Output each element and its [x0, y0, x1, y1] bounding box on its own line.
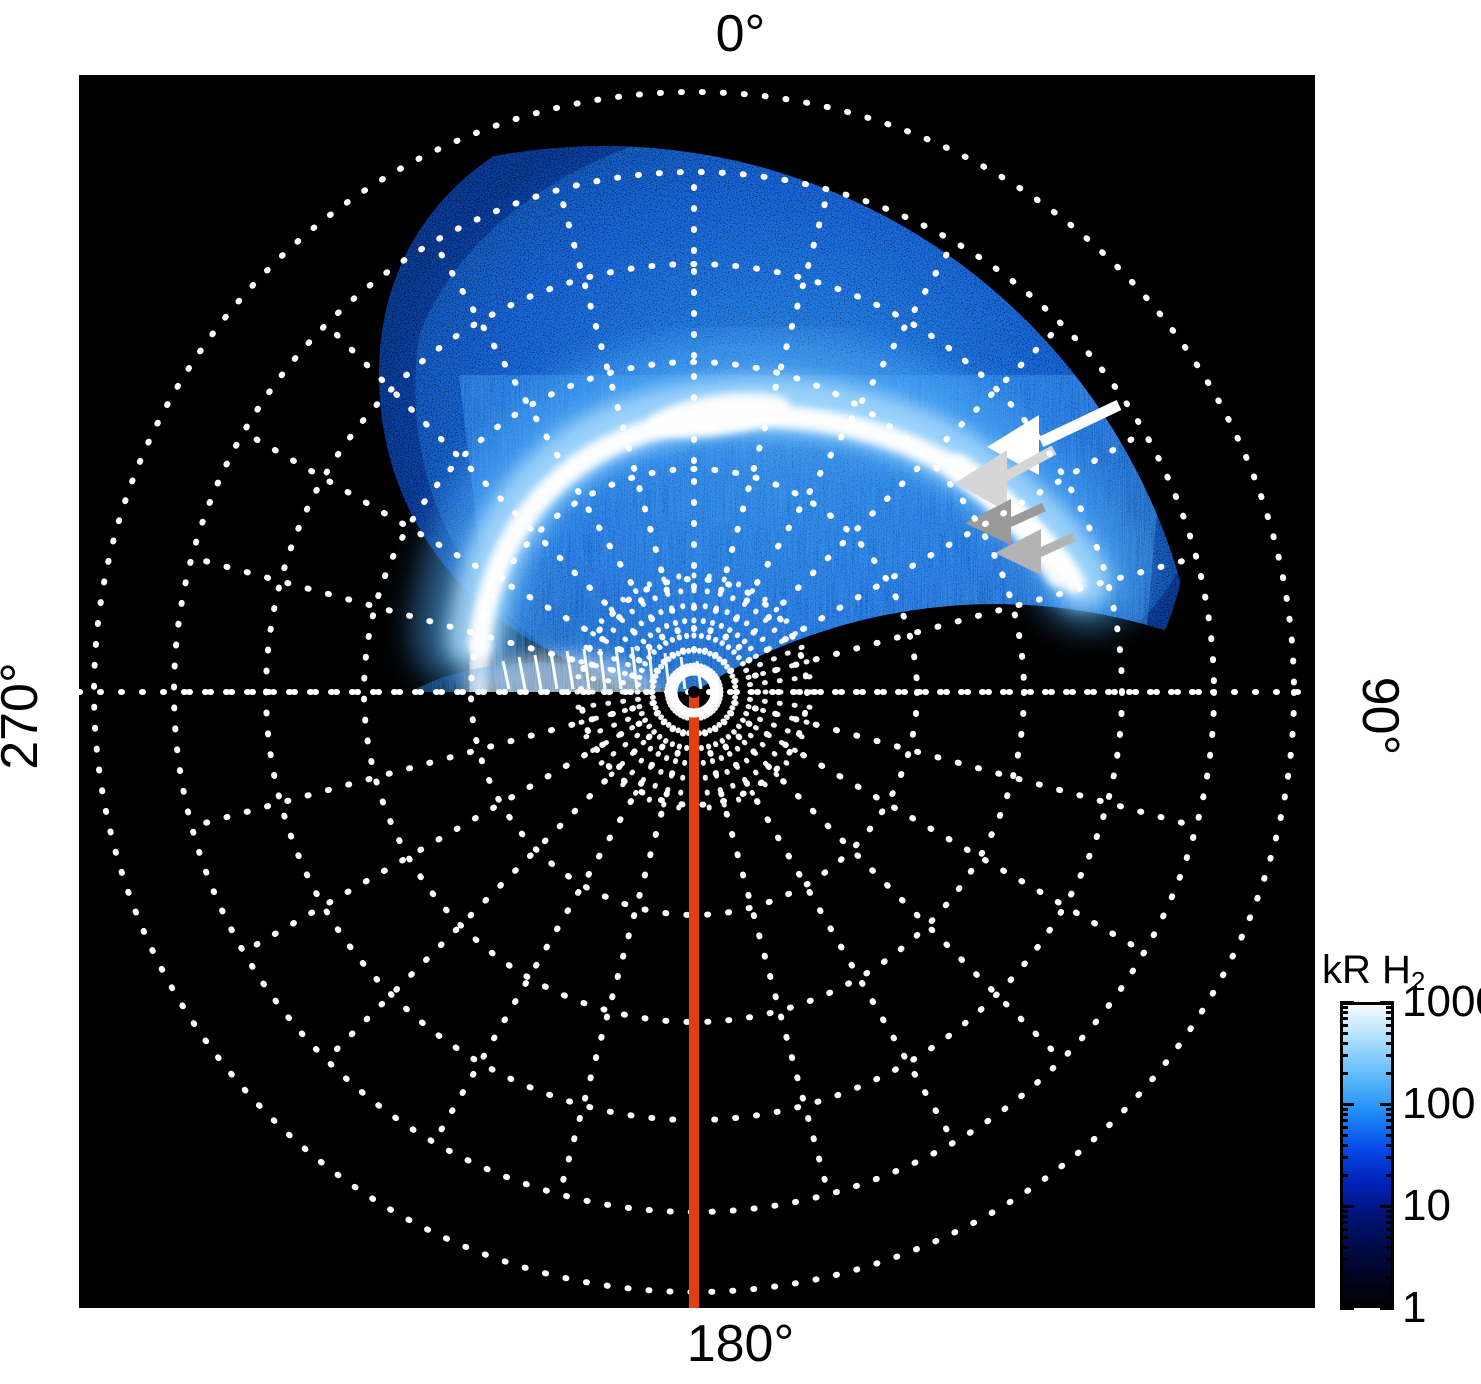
colorbar-title-text: kR H: [1322, 948, 1411, 992]
colorbar-minor-tick: [1340, 1134, 1348, 1137]
colorbar-minor-tick: [1386, 1215, 1394, 1218]
colorbar-minor-tick: [1340, 1024, 1348, 1027]
colorbar-minor-tick: [1340, 1054, 1348, 1057]
colorbar-minor-tick: [1340, 1228, 1348, 1231]
colorbar-minor-tick: [1386, 1276, 1394, 1279]
colorbar-minor-tick: [1340, 1006, 1348, 1009]
colorbar-major-tick: [1340, 1205, 1354, 1208]
colorbar-minor-tick: [1340, 1276, 1348, 1279]
colorbar-minor-tick: [1386, 1042, 1394, 1045]
colorbar-minor-tick: [1386, 1156, 1394, 1159]
colorbar-major-tick: [1380, 1205, 1394, 1208]
axis-label-right: 90°: [1354, 636, 1406, 796]
colorbar-minor-tick: [1386, 1108, 1394, 1111]
colorbar-minor-tick: [1386, 1134, 1394, 1137]
colorbar-minor-tick: [1340, 1108, 1348, 1111]
colorbar-major-tick: [1380, 1307, 1394, 1310]
colorbar-tick-label: 10: [1402, 1184, 1451, 1228]
colorbar-major-tick: [1340, 1307, 1354, 1310]
colorbar-major-tick: [1380, 1001, 1394, 1004]
colorbar-minor-tick: [1340, 1236, 1348, 1239]
axis-label-left: 270°: [0, 636, 46, 796]
colorbar-minor-tick: [1386, 1006, 1394, 1009]
colorbar-minor-tick: [1386, 1011, 1394, 1014]
colorbar-minor-tick: [1340, 1215, 1348, 1218]
colorbar-minor-tick: [1340, 1017, 1348, 1020]
colorbar-minor-tick: [1340, 1113, 1348, 1116]
colorbar-minor-tick: [1386, 1126, 1394, 1129]
colorbar-minor-tick: [1386, 1174, 1394, 1177]
colorbar-tick-label: 100: [1402, 1082, 1475, 1126]
colorbar-tick-label: 1000: [1402, 980, 1481, 1024]
pole-marker-center: [688, 686, 700, 698]
colorbar-minor-tick: [1340, 1072, 1348, 1075]
colorbar-minor-tick: [1386, 1210, 1394, 1213]
colorbar-minor-tick: [1386, 1228, 1394, 1231]
colorbar-minor-tick: [1340, 1119, 1348, 1122]
polar-plot-canvas: [79, 75, 1315, 1308]
colorbar-major-tick: [1340, 1103, 1354, 1106]
colorbar-minor-tick: [1340, 1126, 1348, 1129]
colorbar-minor-tick: [1386, 1258, 1394, 1261]
colorbar-minor-tick: [1386, 1246, 1394, 1249]
colorbar-minor-tick: [1386, 1032, 1394, 1035]
colorbar-major-tick: [1380, 1103, 1394, 1106]
colorbar-minor-tick: [1386, 1072, 1394, 1075]
colorbar-minor-tick: [1340, 1144, 1348, 1147]
colorbar-minor-tick: [1386, 1221, 1394, 1224]
colorbar-minor-tick: [1340, 1221, 1348, 1224]
colorbar-minor-tick: [1340, 1011, 1348, 1014]
colorbar-minor-tick: [1340, 1258, 1348, 1261]
colorbar-minor-tick: [1386, 1144, 1394, 1147]
colorbar-minor-tick: [1340, 1174, 1348, 1177]
polar-auroral-figure: 0° 180° 270° 90°: [0, 0, 1481, 1384]
polar-plot-panel: [79, 75, 1315, 1308]
colorbar-tick-label: 1: [1402, 1286, 1426, 1330]
colorbar-minor-tick: [1386, 1017, 1394, 1020]
colorbar-minor-tick: [1386, 1113, 1394, 1116]
colorbar-minor-tick: [1340, 1042, 1348, 1045]
colorbar-major-tick: [1340, 1001, 1354, 1004]
axis-label-top: 0°: [0, 8, 1481, 60]
colorbar-minor-tick: [1340, 1156, 1348, 1159]
colorbar-minor-tick: [1386, 1119, 1394, 1122]
axis-label-bottom: 180°: [0, 1318, 1481, 1370]
colorbar-minor-tick: [1340, 1246, 1348, 1249]
colorbar-minor-tick: [1386, 1054, 1394, 1057]
colorbar-minor-tick: [1386, 1024, 1394, 1027]
colorbar-gradient: [1340, 1002, 1394, 1308]
colorbar-minor-tick: [1340, 1210, 1348, 1213]
colorbar-minor-tick: [1340, 1032, 1348, 1035]
colorbar-minor-tick: [1386, 1236, 1394, 1239]
